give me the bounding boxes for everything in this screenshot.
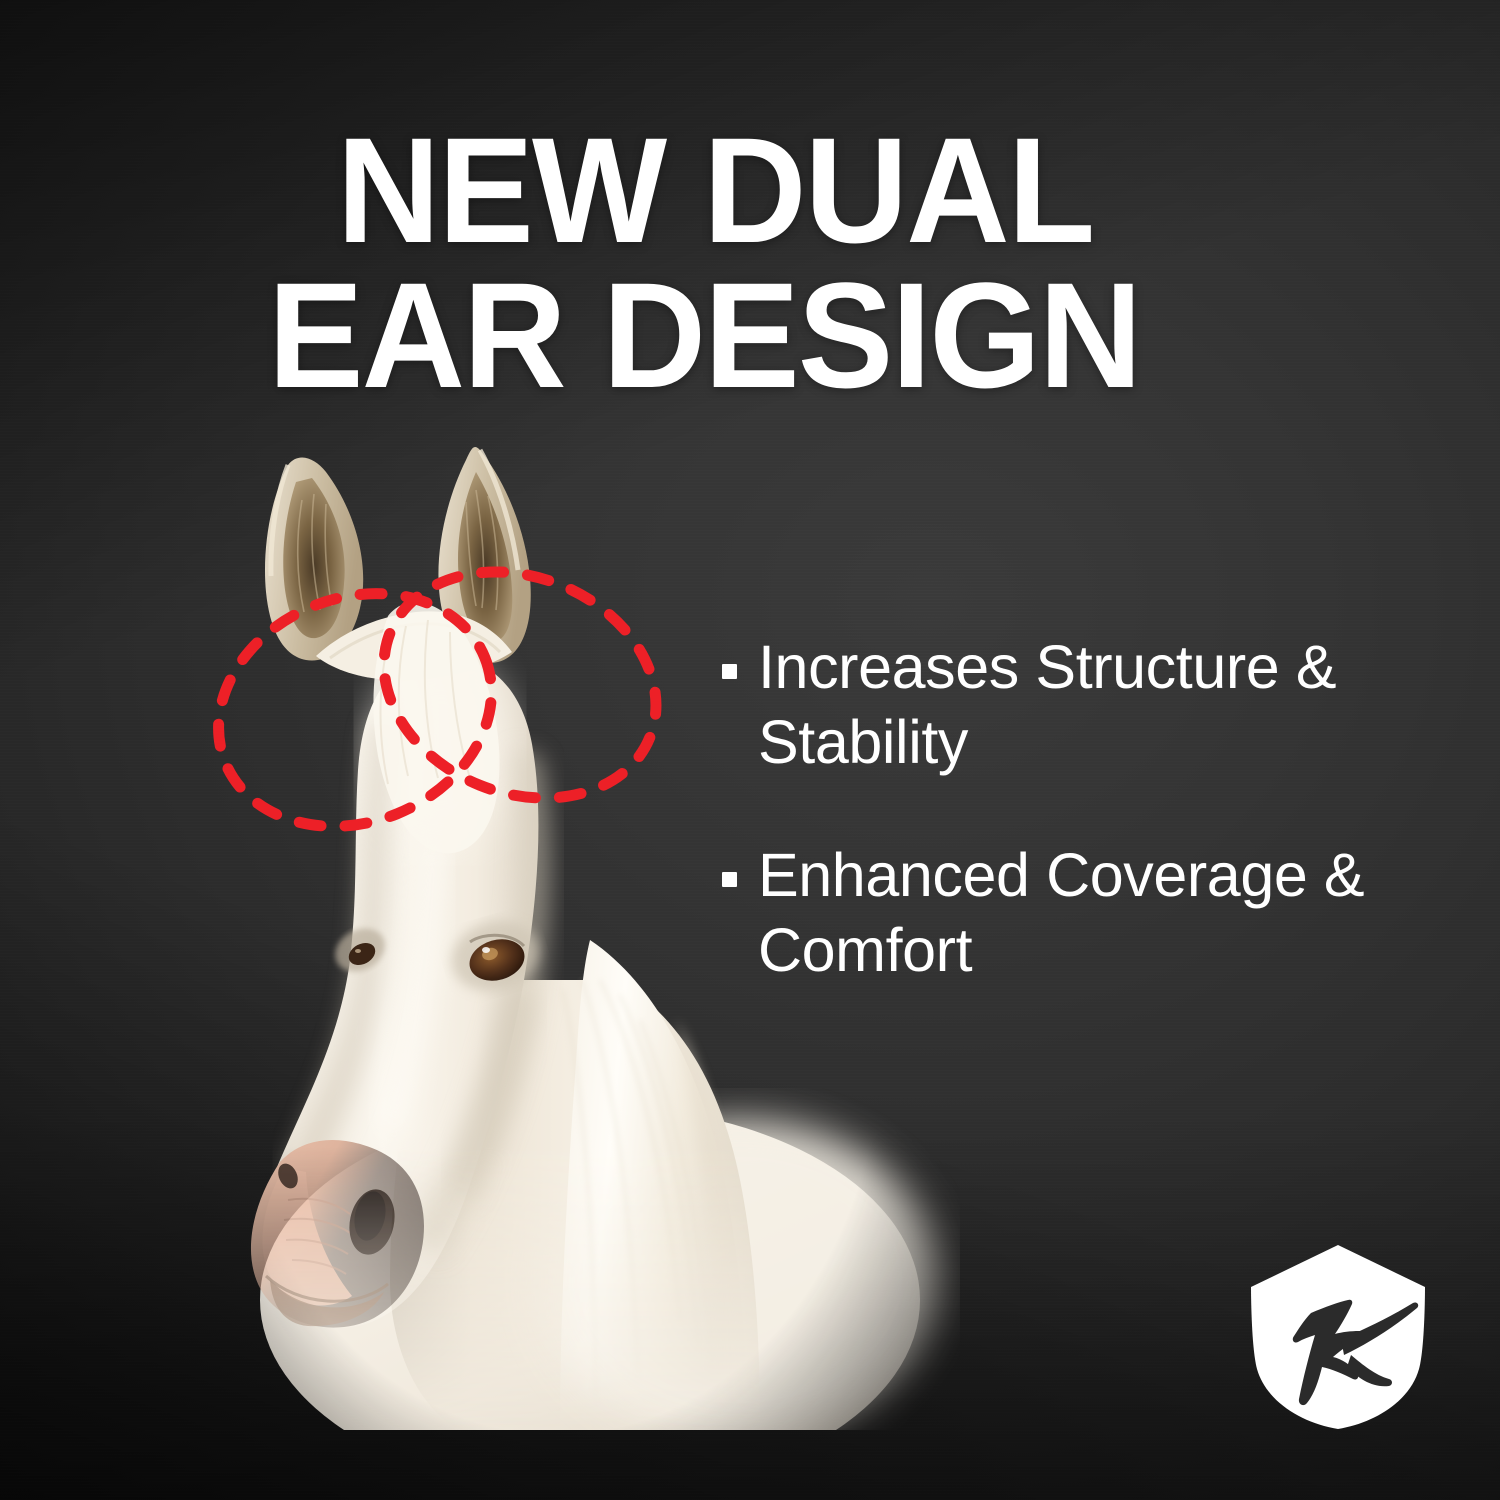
horse-ear-left bbox=[265, 458, 363, 661]
shield-logo-icon bbox=[1247, 1243, 1429, 1431]
feature-bullet-list: Increases Structure & Stability Enhanced… bbox=[722, 630, 1422, 1046]
list-item: Increases Structure & Stability bbox=[722, 630, 1422, 780]
headline-line-1: NEW DUAL bbox=[268, 118, 1223, 263]
brand-logo bbox=[1247, 1243, 1429, 1431]
list-item: Enhanced Coverage & Comfort bbox=[722, 838, 1422, 988]
bullet-label: Enhanced Coverage & Comfort bbox=[758, 838, 1398, 988]
square-bullet-icon bbox=[722, 664, 737, 679]
square-bullet-icon bbox=[722, 872, 737, 887]
promo-graphic: NEW DUAL EAR DESIGN bbox=[0, 0, 1500, 1500]
headline: NEW DUAL EAR DESIGN bbox=[268, 118, 1223, 408]
bullet-label: Increases Structure & Stability bbox=[758, 630, 1398, 780]
headline-line-2: EAR DESIGN bbox=[268, 263, 1223, 408]
